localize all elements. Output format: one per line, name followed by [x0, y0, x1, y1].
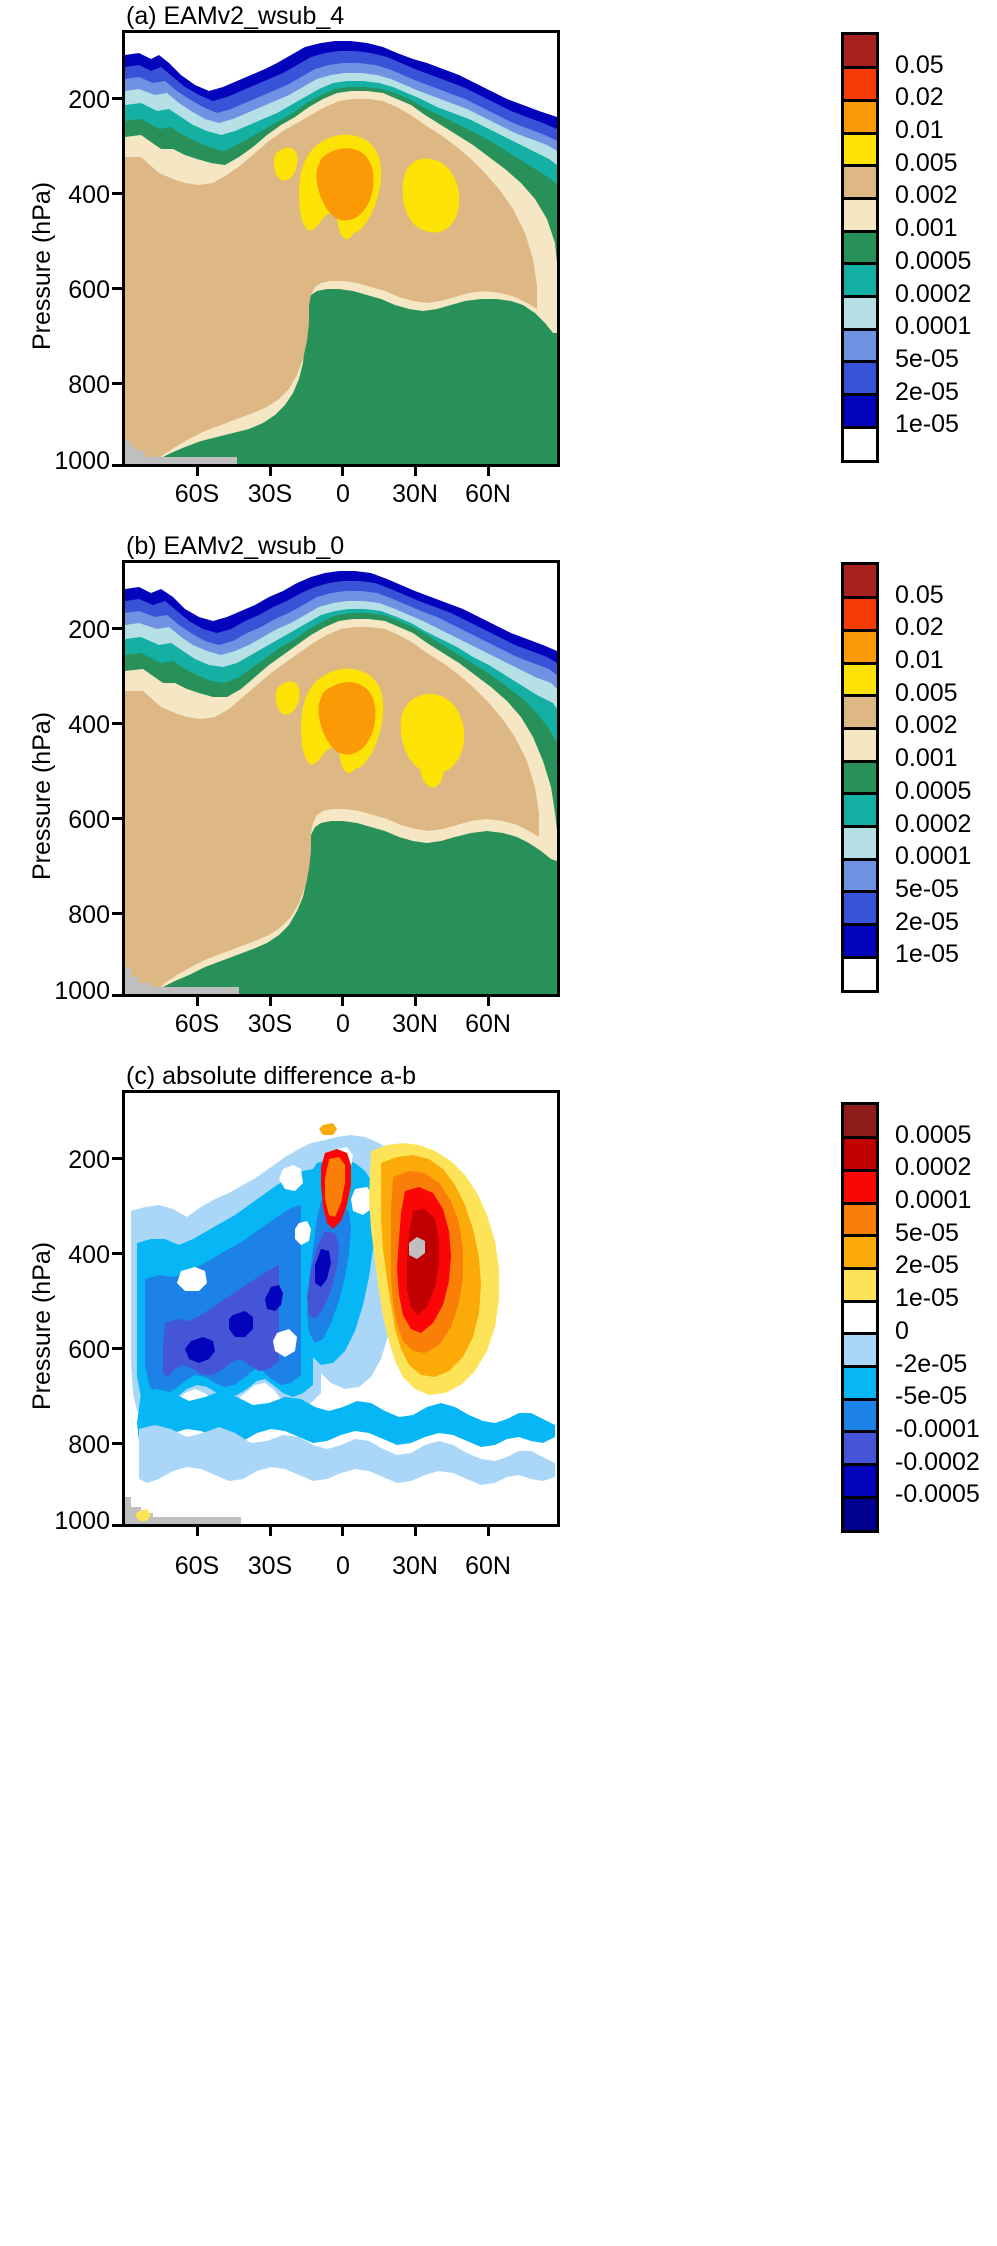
panel-b-colorbar-divider-5: [844, 727, 876, 730]
panel-c-xtick-mark-30N: [414, 1524, 417, 1536]
panel-c-xtick-60S: 60S: [157, 1552, 237, 1581]
panel-a-colorbar-tick-label-10: 2e-05: [895, 378, 959, 407]
panel-b-xtick-60S: 60S: [157, 1010, 237, 1039]
panel-c-colorbar-swatch-2: [844, 1170, 876, 1203]
panel-c-colorbar-tick-label-0: 0.0005: [895, 1121, 971, 1150]
panel-c-xtick-mark-0: [341, 1524, 344, 1536]
panel-c: (c) absolute difference a-b Pressure (hP…: [0, 1060, 997, 1600]
panel-c-colorbar-tick-label-2: 0.0001: [895, 1186, 971, 1215]
panel-b-ytick-mark-400: [112, 722, 125, 725]
panel-b-colorbar-tick-label-11: 1e-05: [895, 940, 959, 969]
panel-b-colorbar-tick-label-8: 0.0001: [895, 842, 971, 871]
panel-a-colorbar-tick-label-7: 0.0002: [895, 280, 971, 309]
panel-a-xtick-mark-0: [341, 464, 344, 476]
panel-b-xtick-30S: 30S: [230, 1010, 310, 1039]
panel-c-colorbar-swatch-8: [844, 1367, 876, 1400]
panel-c-ytick-mark-1000: [112, 1524, 125, 1527]
panel-b-colorbar-divider-10: [844, 890, 876, 893]
panel-c-ytick-600: 600: [35, 1336, 110, 1365]
panel-a-plot-area: [122, 30, 560, 467]
panel-c-plot-area: [122, 1090, 560, 1527]
panel-c-colorbar-swatch-0: [844, 1105, 876, 1138]
panel-a-colorbar-tick-label-1: 0.02: [895, 83, 944, 112]
panel-c-colorbar-swatch-5: [844, 1268, 876, 1301]
panel-b-xtick-30N: 30N: [375, 1010, 455, 1039]
panel-b-xtick-mark-60S: [196, 994, 199, 1006]
panel-b-xtick-mark-60N: [487, 994, 490, 1006]
panel-c-colorbar-swatch-7: [844, 1334, 876, 1367]
panel-a-colorbar-tick-label-5: 0.001: [895, 214, 958, 243]
panel-c-contour-field: [125, 1093, 557, 1524]
panel-b-colorbar-swatch-11: [844, 925, 876, 958]
panel-b-colorbar-divider-9: [844, 858, 876, 861]
panel-a-xtick-mark-30N: [414, 464, 417, 476]
panel-a-ytick-600: 600: [35, 276, 110, 305]
panel-c-colorbar-divider-11: [844, 1463, 876, 1466]
panel-c-title: (c) absolute difference a-b: [126, 1062, 416, 1091]
panel-b-title: (b) EAMv2_wsub_0: [126, 532, 344, 561]
panel-b-colorbar-divider-7: [844, 792, 876, 795]
panel-a-title: (a) EAMv2_wsub_4: [126, 2, 344, 31]
panel-b-colorbar-tick-label-3: 0.005: [895, 679, 958, 708]
panel-a-xtick-mark-30S: [269, 464, 272, 476]
panel-c-colorbar-divider-6: [844, 1300, 876, 1303]
panel-b-colorbar-swatch-4: [844, 696, 876, 729]
panel-c-colorbar: [841, 1102, 879, 1533]
panel-a-ytick-200: 200: [35, 86, 110, 115]
panel-a-xtick-30N: 30N: [375, 480, 455, 509]
panel-b-colorbar: [841, 562, 879, 993]
panel-c-colorbar-divider-10: [844, 1430, 876, 1433]
panel-c-ytick-1000: 1000: [20, 1507, 110, 1536]
panel-b-colorbar-swatch-0: [844, 565, 876, 598]
panel-c-ytick-200: 200: [35, 1146, 110, 1175]
panel-b-contour-field: [125, 563, 557, 994]
panel-c-ytick-400: 400: [35, 1241, 110, 1270]
panel-b-colorbar-swatch-9: [844, 859, 876, 892]
panel-b-colorbar-tick-label-4: 0.002: [895, 711, 958, 740]
panel-a-xtick-60S: 60S: [157, 480, 237, 509]
panel-a-colorbar-tick-label-11: 1e-05: [895, 410, 959, 439]
panel-c-xtick-30S: 30S: [230, 1552, 310, 1581]
panel-b-colorbar-swatch-6: [844, 761, 876, 794]
panel-c-colorbar-swatch-4: [844, 1236, 876, 1269]
panel-b-colorbar-tick-label-2: 0.01: [895, 646, 944, 675]
panel-b-colorbar-divider-3: [844, 662, 876, 665]
panel-c-colorbar-swatch-10: [844, 1432, 876, 1465]
panel-a-colorbar-tick-label-6: 0.0005: [895, 247, 971, 276]
panel-c-colorbar-divider-3: [844, 1202, 876, 1205]
panel-b-colorbar-swatch-8: [844, 827, 876, 860]
panel-b-colorbar-swatch-1: [844, 598, 876, 631]
panel-c-colorbar-swatch-9: [844, 1399, 876, 1432]
panel-b-plot-area: [122, 560, 560, 997]
panel-b-colorbar-divider-11: [844, 923, 876, 926]
panel-b-ytick-1000: 1000: [20, 977, 110, 1006]
panel-b-ytick-mark-1000: [112, 994, 125, 997]
panel-a-ytick-mark-1000: [112, 464, 125, 467]
panel-b-xtick-60N: 60N: [448, 1010, 528, 1039]
panel-a-ytick-mark-400: [112, 192, 125, 195]
panel-c-colorbar-divider-1: [844, 1136, 876, 1139]
panel-c-colorbar-swatch-6: [844, 1301, 876, 1334]
panel-b-colorbar-tick-label-9: 5e-05: [895, 875, 959, 904]
panel-b-colorbar-divider-6: [844, 760, 876, 763]
panel-c-colorbar-divider-12: [844, 1496, 876, 1499]
panel-b-colorbar-swatch-7: [844, 794, 876, 827]
panel-c-colorbar-tick-label-4: 2e-05: [895, 1251, 959, 1280]
panel-a-ytick-1000: 1000: [20, 447, 110, 476]
panel-b-colorbar-divider-4: [844, 694, 876, 697]
panel-a-xtick-0: 0: [303, 480, 383, 509]
panel-b-colorbar-tick-label-10: 2e-05: [895, 908, 959, 937]
panel-b-colorbar-tick-label-0: 0.05: [895, 581, 944, 610]
panel-c-colorbar-divider-8: [844, 1365, 876, 1368]
panel-c-colorbar-divider-5: [844, 1267, 876, 1270]
panel-b-ytick-400: 400: [35, 711, 110, 740]
panel-c-xtick-60N: 60N: [448, 1552, 528, 1581]
panel-c-xtick-0: 0: [303, 1552, 383, 1581]
panel-b-colorbar-divider-12: [844, 956, 876, 959]
panel-a-colorbar-tick-label-3: 0.005: [895, 149, 958, 178]
panel-b-colorbar-swatch-10: [844, 892, 876, 925]
panel-c-colorbar-tick-label-10: -0.0002: [895, 1448, 980, 1477]
panel-a-ytick-mark-800: [112, 382, 125, 385]
panel-b-colorbar-divider-2: [844, 629, 876, 632]
panel-b: (b) EAMv2_wsub_0 Pressure (hPa) 200 400 …: [0, 530, 997, 1050]
panel-c-xtick-mark-30S: [269, 1524, 272, 1536]
panel-c-ytick-mark-800: [112, 1442, 125, 1445]
panel-c-xtick-mark-60N: [487, 1524, 490, 1536]
panel-c-colorbar-swatch-12: [844, 1497, 876, 1530]
panel-b-colorbar-divider-8: [844, 825, 876, 828]
panel-b-ytick-200: 200: [35, 616, 110, 645]
panel-a-colorbar-tick-label-4: 0.002: [895, 181, 958, 210]
panel-b-colorbar-swatch-2: [844, 630, 876, 663]
panel-c-colorbar-divider-2: [844, 1169, 876, 1172]
panel-b-ytick-mark-200: [112, 627, 125, 630]
panel-b-ytick-mark-800: [112, 912, 125, 915]
panel-a-colorbar-tick-label-2: 0.01: [895, 116, 944, 145]
panel-a-xtick-mark-60S: [196, 464, 199, 476]
panel-c-ytick-mark-600: [112, 1347, 125, 1350]
panel-a: (a) EAMv2_wsub_4 Pressure (hPa) 200 400 …: [0, 0, 997, 520]
panel-b-ytick-800: 800: [35, 901, 110, 930]
panel-c-xtick-mark-60S: [196, 1524, 199, 1536]
panel-b-colorbar-swatch-12: [844, 957, 876, 990]
panel-a-colorbar-tick-label-8: 0.0001: [895, 312, 971, 341]
panel-c-colorbar-swatch-3: [844, 1203, 876, 1236]
panel-c-colorbar-divider-7: [844, 1332, 876, 1335]
panel-c-colorbar-tick-label-7: -2e-05: [895, 1350, 967, 1379]
panel-a-ytick-mark-600: [112, 287, 125, 290]
panel-c-ytick-mark-400: [112, 1252, 125, 1255]
panel-b-colorbar-tick-label-6: 0.0005: [895, 777, 971, 806]
panel-b-colorbar-tick-label-7: 0.0002: [895, 810, 971, 839]
panel-a-xtick-60N: 60N: [448, 480, 528, 509]
panel-c-colorbar-tick-label-11: -0.0005: [895, 1480, 980, 1509]
panel-c-ytick-800: 800: [35, 1431, 110, 1460]
panel-b-colorbar-tick-label-1: 0.02: [895, 613, 944, 642]
panel-a-xtick-mark-60N: [487, 464, 490, 476]
panel-c-colorbar-tick-label-6: 0: [895, 1317, 909, 1346]
panel-b-colorbar-swatch-5: [844, 728, 876, 761]
panel-c-colorbar-swatch-11: [844, 1465, 876, 1498]
panel-a-colorbar-tick-label-0: 0.05: [895, 51, 944, 80]
panel-a-colorbar-tick-label-9: 5e-05: [895, 345, 959, 374]
panel-c-colorbar-tick-label-9: -0.0001: [895, 1415, 980, 1444]
panel-b-xtick-0: 0: [303, 1010, 383, 1039]
panel-a-xtick-30S: 30S: [230, 480, 310, 509]
panel-a-ytick-mark-200: [112, 97, 125, 100]
panel-c-xtick-30N: 30N: [375, 1552, 455, 1581]
panel-b-xtick-mark-30N: [414, 994, 417, 1006]
panel-c-colorbar-tick-label-3: 5e-05: [895, 1219, 959, 1248]
panel-c-colorbar-divider-9: [844, 1398, 876, 1401]
panel-b-colorbar-divider-1: [844, 596, 876, 599]
panel-b-colorbar-swatch-3: [844, 663, 876, 696]
panel-c-colorbar-divider-4: [844, 1234, 876, 1237]
panel-c-colorbar-tick-label-1: 0.0002: [895, 1153, 971, 1182]
panel-b-ytick-mark-600: [112, 817, 125, 820]
panel-c-colorbar-swatch-1: [844, 1138, 876, 1171]
panel-c-colorbar-tick-label-5: 1e-05: [895, 1284, 959, 1313]
panel-a-colorbar-segments: [841, 32, 879, 463]
panel-a-ytick-400: 400: [35, 181, 110, 210]
panel-a-ytick-800: 800: [35, 371, 110, 400]
panel-a-contour-field: [125, 33, 557, 464]
panel-b-colorbar-tick-label-5: 0.001: [895, 744, 958, 773]
panel-b-xtick-mark-0: [341, 994, 344, 1006]
panel-c-colorbar-tick-label-8: -5e-05: [895, 1382, 967, 1411]
panel-c-ytick-mark-200: [112, 1157, 125, 1160]
panel-b-xtick-mark-30S: [269, 994, 272, 1006]
panel-b-ytick-600: 600: [35, 806, 110, 835]
